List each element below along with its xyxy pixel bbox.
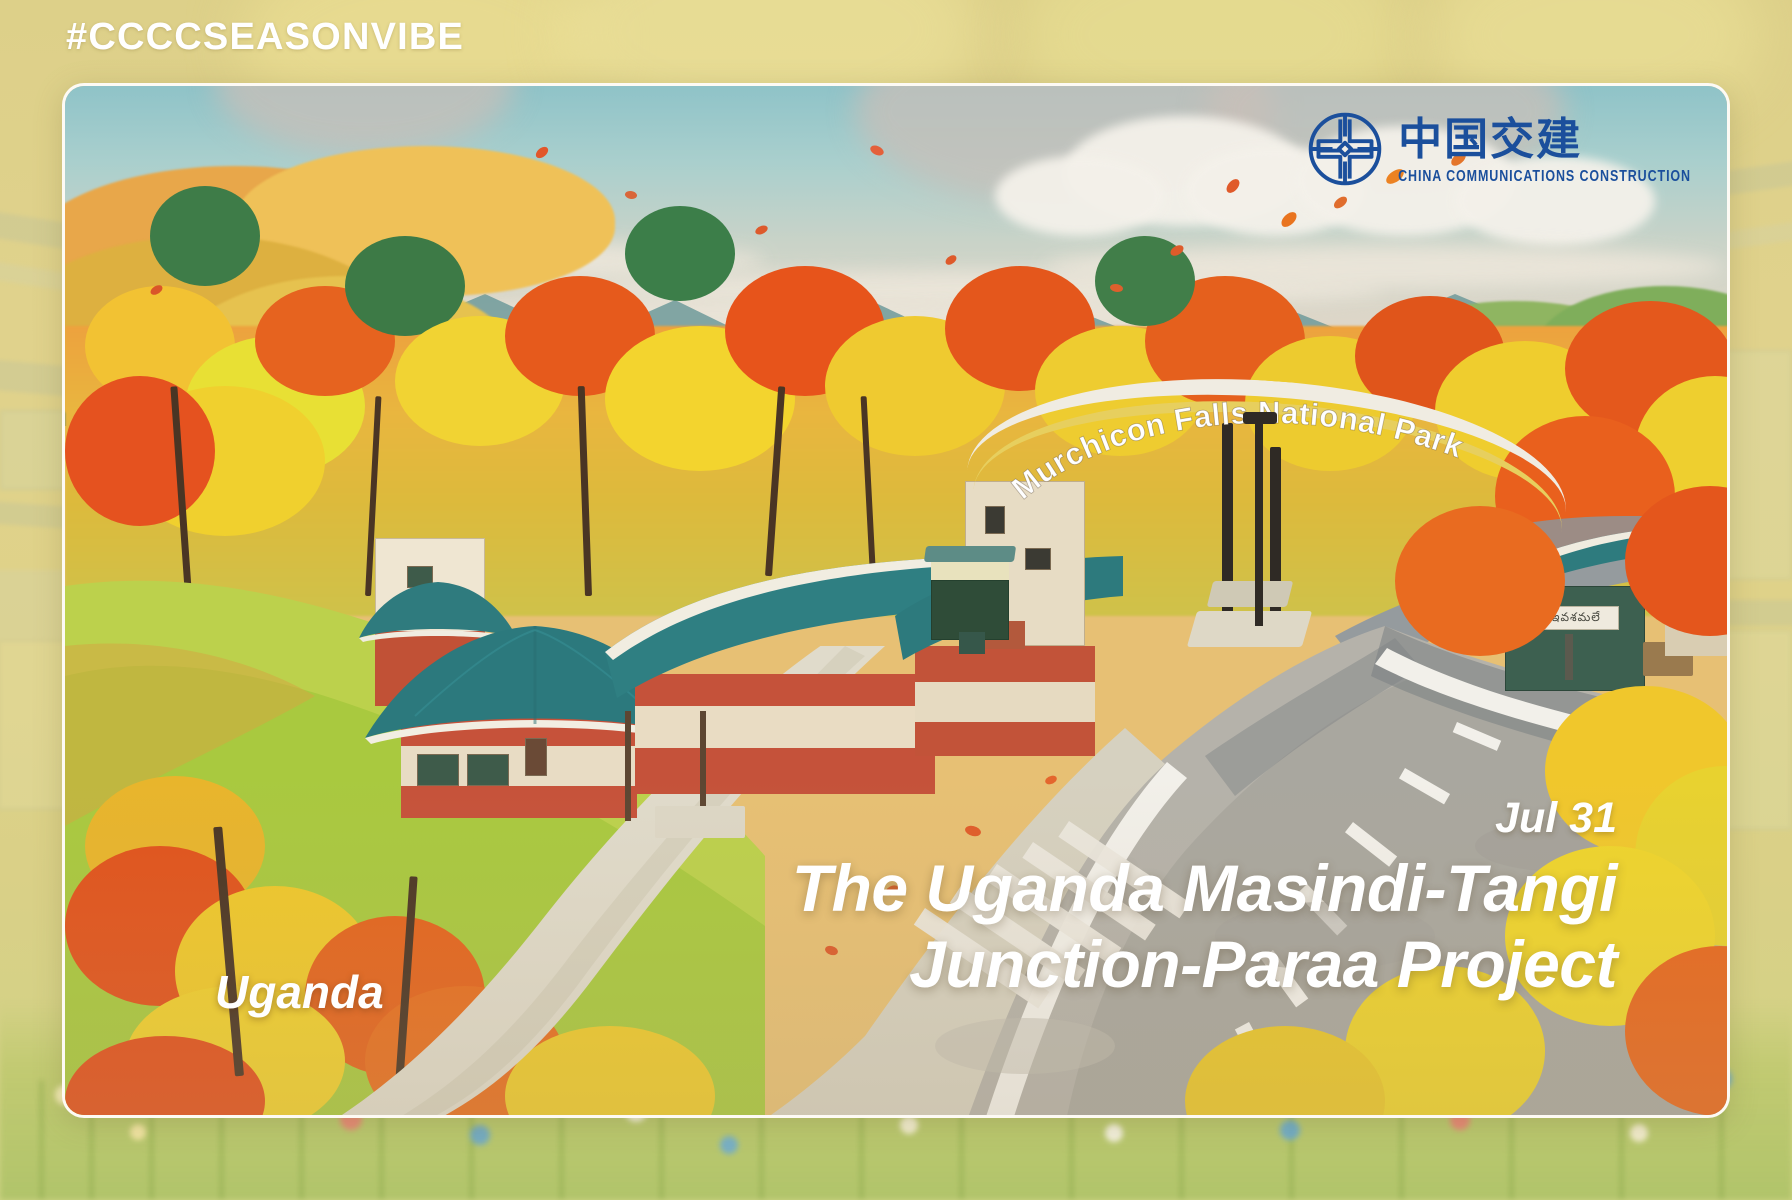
arch-base-block [1187,611,1312,647]
tree-canopy [65,376,215,526]
svg-text:Murchicon Falls National Park: Murchicon Falls National Park [1005,395,1468,506]
roof-hip-small [351,86,521,150]
lamp-head [1243,412,1277,424]
house-far-band [915,682,1095,722]
kiosk-post [1565,634,1573,680]
brand-wordmark: 中国交建 CHINA COMMUNICATIONS CONSTRUCTION [1398,118,1691,181]
bush [1395,506,1565,656]
title-line-1: The Uganda Masindi-Tangi [792,850,1617,927]
arch-sign-text: Murchicon Falls National Park [1005,395,1468,506]
hashtag-label: #CCCCSEASONVIBE [66,16,464,59]
brand-name-en: CHINA COMMUNICATIONS CONSTRUCTION [1398,167,1691,185]
cloud [995,156,1165,236]
tree-canopy [625,206,735,301]
country-label: Uganda [215,965,384,1019]
date-label: Jul 31 [1495,794,1617,843]
house-wing-band [635,706,935,748]
lamp-post [1255,416,1263,626]
tree-canopy [150,186,260,286]
gate-bin [959,632,985,654]
kiosk-sign-text: ఇవశమలే [1551,610,1601,627]
promo-card: Murchicon Falls National Park ఇవశమలే [62,83,1730,1118]
arch-base-block [1207,581,1293,607]
title-line-2: Junction-Paraa Project [792,926,1617,1003]
page-title: The Uganda Masindi-Tangi Junction-Paraa … [792,850,1617,1003]
cccc-compass-logo-icon [1306,110,1384,188]
gate-green-door [931,580,1009,640]
brand-name-cn: 中国交建 [1398,118,1582,162]
brand-logo: 中国交建 CHINA COMMUNICATIONS CONSTRUCTION [1306,110,1691,188]
